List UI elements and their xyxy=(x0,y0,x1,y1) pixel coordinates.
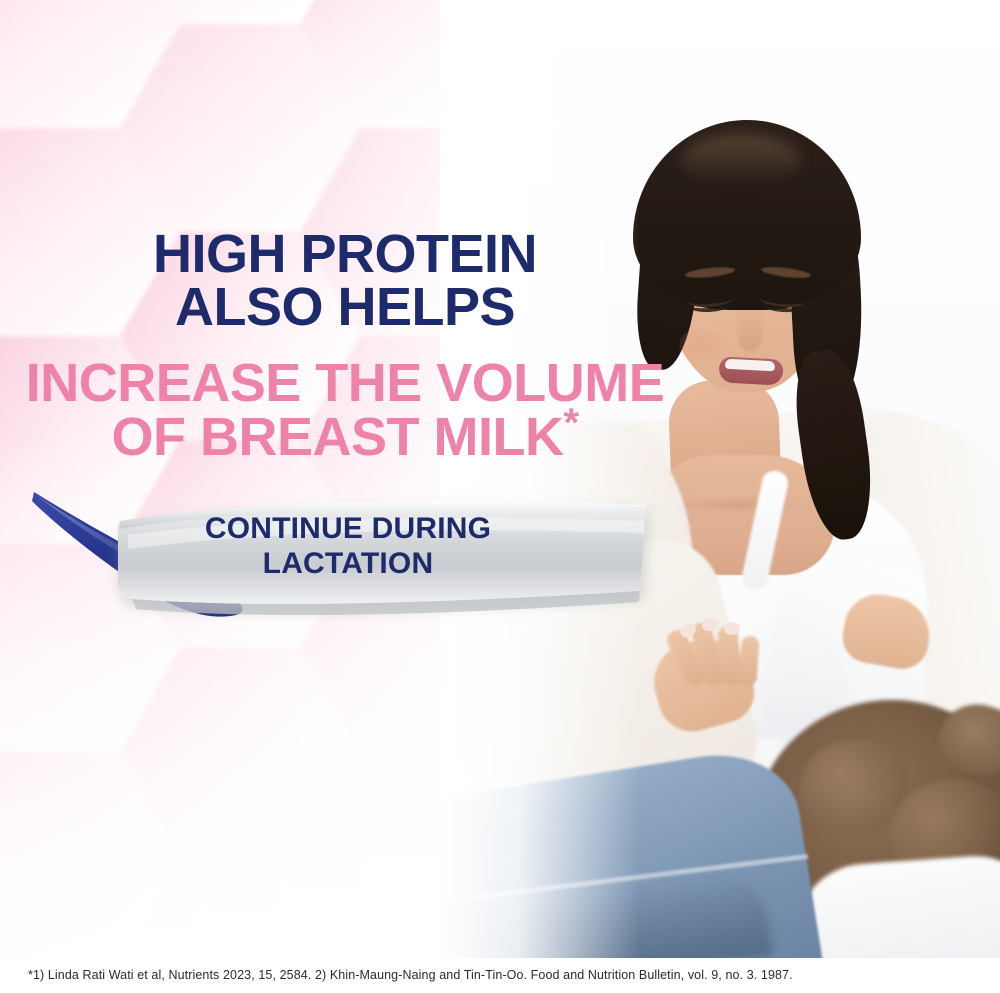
footnote-references: *1) Linda Rati Wati et al, Nutrients 202… xyxy=(28,968,793,983)
headline-pink-line-1: INCREASE THE VOLUME xyxy=(0,356,690,410)
headline-pink: INCREASE THE VOLUME OF BREAST MILK* xyxy=(0,356,690,464)
headline-navy: HIGH PROTEIN ALSO HELPS xyxy=(0,228,690,334)
finger xyxy=(738,635,759,686)
headline-navy-line-1: HIGH PROTEIN xyxy=(0,228,690,281)
headline-asterisk: * xyxy=(563,401,578,445)
hair-highlight xyxy=(681,134,801,186)
headline-navy-line-2: ALSO HELPS xyxy=(0,281,690,334)
advertisement-banner: HIGH PROTEIN ALSO HELPS INCREASE THE VOL… xyxy=(0,0,1000,993)
ribbon-line-1: CONTINUE DURING xyxy=(138,512,558,547)
headline-pink-line-2: OF BREAST MILK* xyxy=(0,410,690,464)
ribbon-banner: CONTINUE DURING LACTATION xyxy=(28,487,668,622)
mother-and-baby-photo xyxy=(440,0,1000,958)
photo-left-blend xyxy=(440,0,640,958)
headline-block: HIGH PROTEIN ALSO HELPS INCREASE THE VOL… xyxy=(0,228,690,464)
ribbon-text: CONTINUE DURING LACTATION xyxy=(138,512,558,582)
nose xyxy=(737,310,763,352)
footnote-bar: *1) Linda Rati Wati et al, Nutrients 202… xyxy=(0,958,1000,993)
ribbon-line-2: LACTATION xyxy=(138,547,558,582)
collarbone-shading xyxy=(665,500,815,510)
headline-pink-line-2-text: OF BREAST MILK xyxy=(111,407,563,467)
